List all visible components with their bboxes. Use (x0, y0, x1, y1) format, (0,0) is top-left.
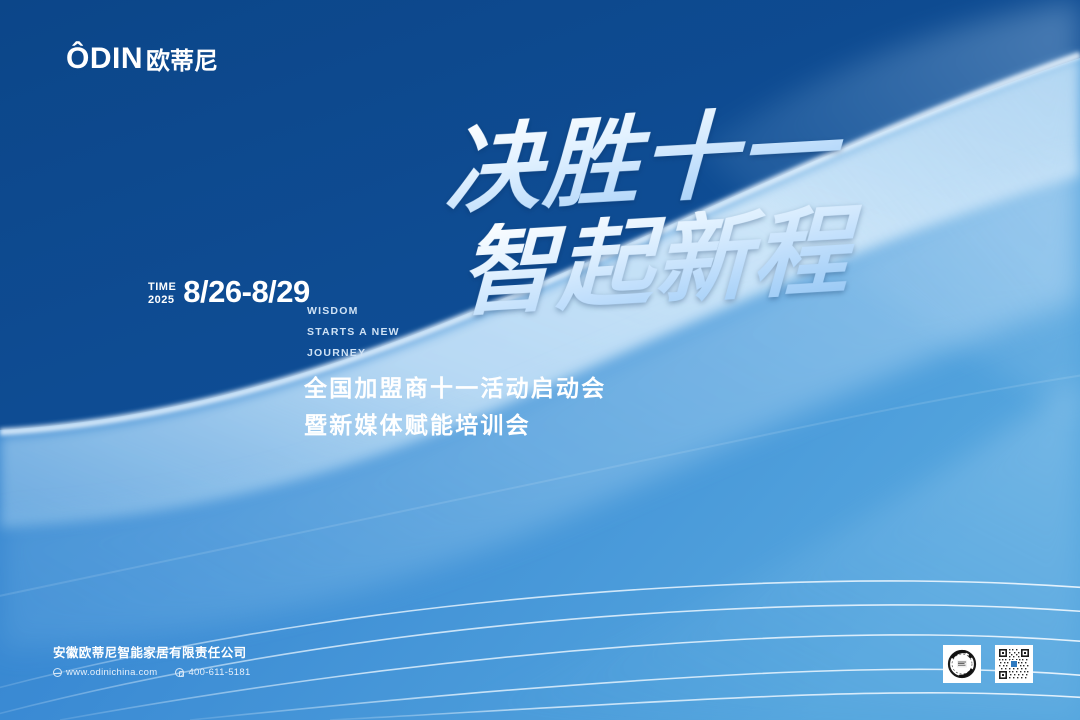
round-code-icon (946, 648, 978, 680)
date-label: TIME 2025 (148, 277, 176, 307)
footer-block: 安徽欧蒂尼智能家居有限责任公司 www.odinichina.com 400-6… (53, 645, 251, 678)
phone-item: 400-611-5181 (175, 667, 250, 678)
subtitle-line-2: 暨新媒体赋能培训会 (304, 408, 606, 445)
poster-canvas: ÔDIN 欧蒂尼 决胜十一 智起新程 TIME 2025 8/26-8/29 W… (0, 0, 1080, 720)
tagline-line-2: STARTS A NEW (307, 322, 400, 343)
douyin-code[interactable] (943, 645, 981, 683)
website-text: www.odinichina.com (66, 667, 157, 678)
date-label-year: 2025 (148, 294, 176, 307)
company-name: 安徽欧蒂尼智能家居有限责任公司 (53, 645, 251, 661)
odin-wordmark-icon: ÔDIN (66, 44, 143, 74)
phone-text: 400-611-5181 (188, 667, 250, 678)
date-label-time: TIME (148, 281, 176, 294)
phone-icon (175, 668, 184, 677)
website-item: www.odinichina.com (53, 667, 157, 678)
event-subtitle: 全国加盟商十一活动启动会 暨新媒体赋能培训会 (304, 371, 606, 446)
qr-code-icon (998, 648, 1030, 680)
contact-row: www.odinichina.com 400-611-5181 (53, 667, 251, 678)
subtitle-line-1: 全国加盟商十一活动启动会 (304, 371, 606, 408)
wechat-qr-code[interactable] (995, 645, 1033, 683)
code-group (943, 645, 1033, 683)
brand-logo: ÔDIN 欧蒂尼 (66, 44, 218, 74)
tagline-line-3: JOURNEY (307, 343, 400, 364)
background-artwork (0, 0, 1080, 720)
event-date-block: TIME 2025 8/26-8/29 (148, 276, 310, 307)
tagline-line-1: WISDOM (307, 301, 400, 322)
english-tagline: WISDOM STARTS A NEW JOURNEY (307, 301, 400, 364)
date-range: 8/26-8/29 (183, 276, 310, 307)
globe-icon (53, 668, 62, 677)
brand-name-cn: 欧蒂尼 (146, 49, 218, 74)
